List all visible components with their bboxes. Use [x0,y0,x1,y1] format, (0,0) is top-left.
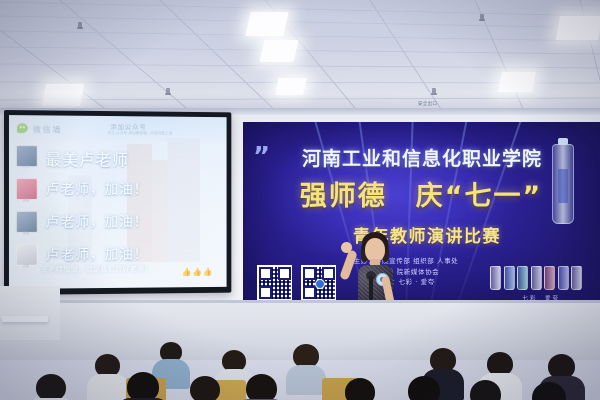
raised-arm [339,249,358,280]
thumbs-up-icon: 👍👍👍 [182,267,213,276]
sponsor-bottle-row [490,266,582,290]
projection-screen-frame: 微信墙 添加公众号 关注 公众号 添加微信墙，内容可能上墙 小宇 最美卢老师 晨… [4,110,231,295]
screen-footer-message: 王老师加油，你是我们的好老师！ [41,264,152,275]
avatar-caption: 安然 [16,231,36,235]
lecture-hall-photo: 安全出口 微信墙 添加公众号 关注 公众号 添加微信墙，内容可能上墙 小宇 最美… [0,0,600,400]
ceiling-light-panel [245,12,289,36]
avatar [16,178,38,200]
event-banner: 河南工业和信息化职业学院 强师德 庆“七一” 青年教师演讲比赛 主办：学院宣传部… [243,122,600,312]
wechat-message-text: 最美卢老师 [46,146,129,170]
exit-sign-label: 安全出口 [418,101,437,107]
ceiling [0,0,600,120]
banner-subheadline: 青年教师演讲比赛 [277,222,577,247]
raised-hand [341,242,352,253]
wechat-message-text: 卢老师，加油！ [46,212,148,232]
add-public-account-subtitle: 关注 公众号 添加微信墙，内容可能上墙 [107,131,172,136]
sprinkler-head [78,22,82,29]
wechat-message-text: 卢老师，加油！ [46,244,148,264]
sponsor-bottle-illustration [552,144,574,224]
quote-mark: ” [253,148,270,166]
ceiling-light-panel [259,40,298,62]
avatar-caption: 小白 [16,264,36,268]
ceiling-light-panel [556,16,600,40]
qr-code [257,265,292,300]
avatar [16,145,38,167]
ceiling-light-panel [498,72,536,92]
screen-app-title: 微信墙 [33,124,63,135]
avatar-caption: 晨曦 [16,198,36,202]
avatar [16,211,38,233]
add-public-account-title: 添加公众号 [110,121,146,131]
qr-code [301,265,336,300]
wechat-message-text: 卢老师，加油！ [46,179,148,199]
avatar [16,244,38,266]
audience [0,296,600,400]
banner-headline: 强师德 庆“七一” [251,174,591,213]
avatar-caption: 小宇 [16,165,36,169]
banner-institution-name: 河南工业和信息化职业学院 [257,144,587,171]
sprinkler-head [480,14,484,21]
projection-screen: 微信墙 添加公众号 关注 公众号 添加微信墙，内容可能上墙 小宇 最美卢老师 晨… [9,115,227,289]
ceiling-light-panel [275,78,307,95]
wechat-icon [17,123,28,133]
